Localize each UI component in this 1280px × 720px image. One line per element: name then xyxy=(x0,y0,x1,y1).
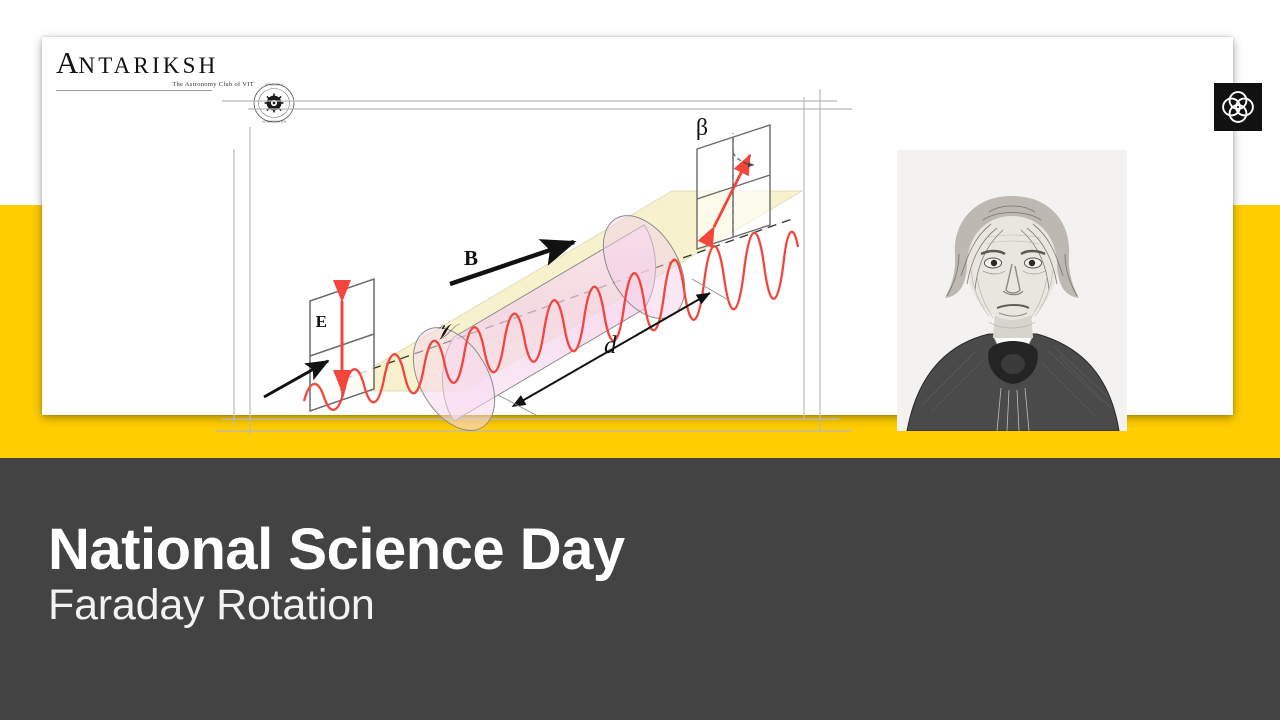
brand-initial: A xyxy=(56,45,78,80)
brand-wordmark: ANTARIKSH xyxy=(56,47,256,78)
label-rotation-angle: β xyxy=(696,115,708,141)
label-magnetic-field: B xyxy=(464,246,478,270)
page-subtitle: Faraday Rotation xyxy=(48,583,948,628)
brand-divider xyxy=(56,90,212,91)
content-card: ANTARIKSH The Astronomy Club of VIT xyxy=(42,37,1233,415)
brand-name-rest: NTARIKSH xyxy=(78,53,218,78)
label-length: d xyxy=(604,332,617,359)
title-block: National Science Day Faraday Rotation xyxy=(48,520,948,628)
rosette-logo-icon xyxy=(1214,83,1262,131)
label-electric-field: E xyxy=(316,312,327,331)
slide-root: ANTARIKSH The Astronomy Club of VIT xyxy=(0,0,1280,720)
michael-faraday-portrait xyxy=(897,150,1127,431)
faraday-rotation-diagram: E B 𝒱 xyxy=(192,79,892,439)
page-title: National Science Day xyxy=(48,520,948,579)
